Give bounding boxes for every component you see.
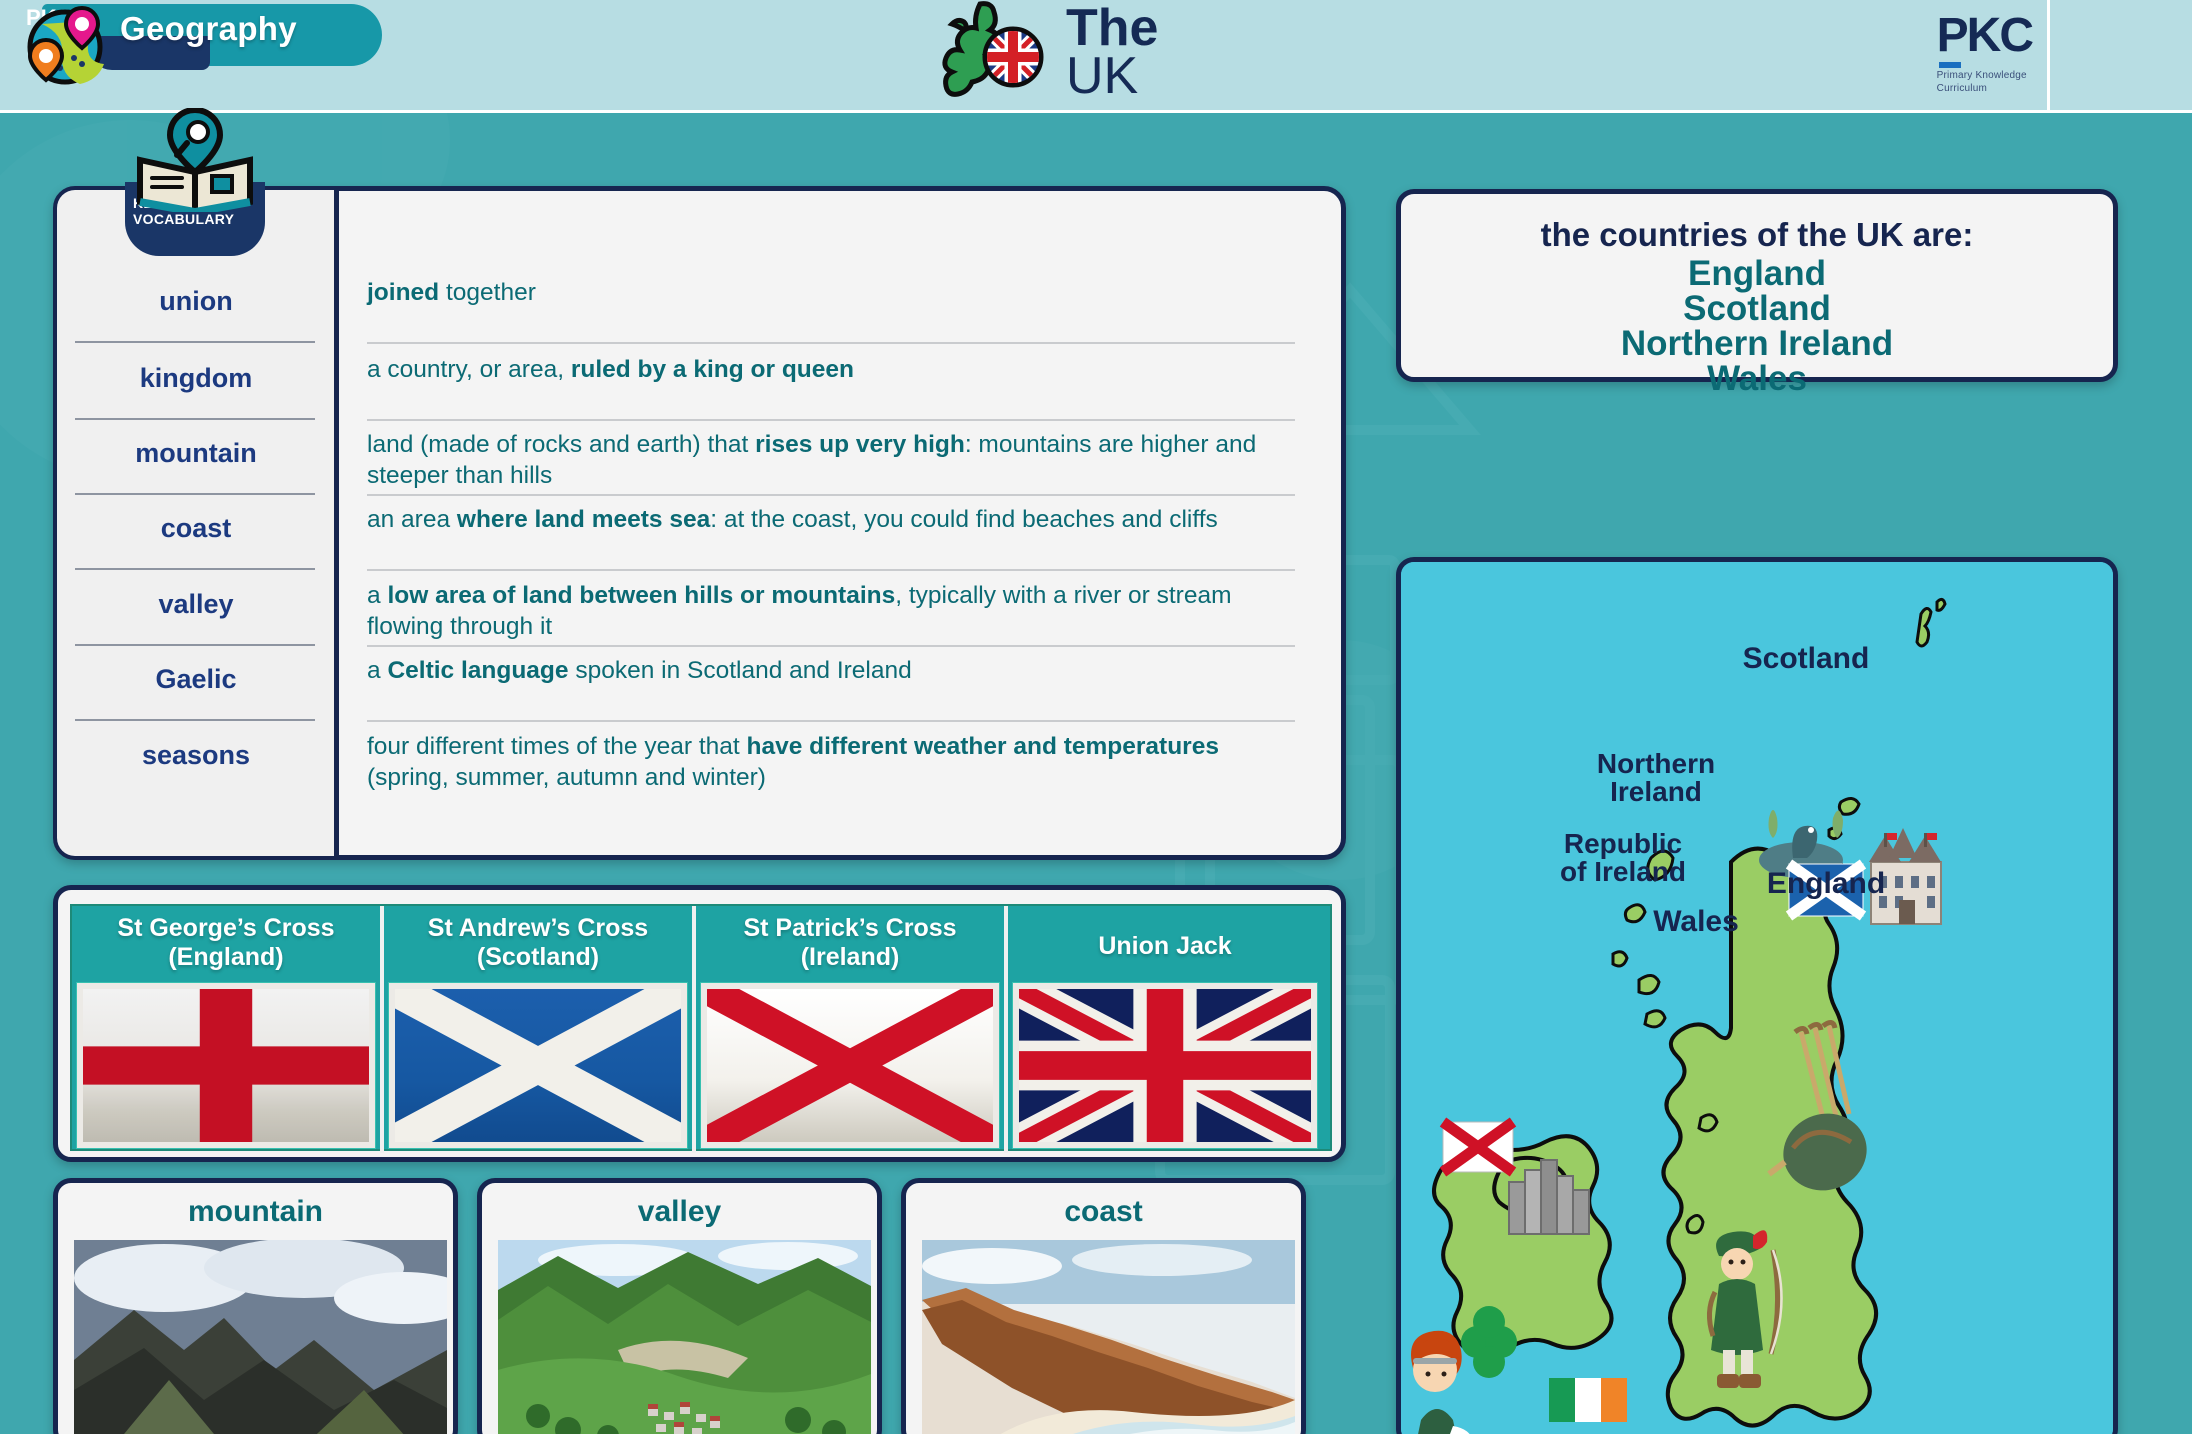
vocab-term-seasons: seasons xyxy=(57,740,335,771)
flag-cell-england-flag: St George’s Cross(England) xyxy=(72,906,384,1153)
vocabulary-terms-column: unionkingdommountaincoastvalleyGaelicsea… xyxy=(57,190,339,856)
photo-card-valley: valley xyxy=(477,1178,882,1434)
pkc-brand-logo: PKC Primary Knowledge Curriculum xyxy=(1937,12,2032,95)
pkc-mark: PKC xyxy=(1937,12,2032,60)
subject-label: Geography xyxy=(120,10,297,48)
pkc-subtitle-line2: Curriculum xyxy=(1937,83,2032,96)
vocab-definition-mountain: land (made of rocks and earth) that rise… xyxy=(367,429,1297,492)
uk-map-flag-icon xyxy=(940,0,1060,105)
vocab-term-union: union xyxy=(57,286,335,317)
map-label-wales: Wales xyxy=(1601,907,1791,937)
top-banner: Geography PKC The UK xyxy=(0,0,2192,113)
vocab-divider xyxy=(75,341,315,343)
vocab-term-mountain: mountain xyxy=(57,438,335,469)
country-wales: Wales xyxy=(1401,361,2113,396)
logo-line-the: The xyxy=(1066,5,1158,53)
globe-pin-icon xyxy=(22,2,108,88)
vocab-definition-union: joined together xyxy=(367,277,1297,308)
scotland-flag-icon xyxy=(388,982,688,1149)
flags-row: St George’s Cross(England)St Andrew’s Cr… xyxy=(70,904,1332,1151)
vocab-term-valley: valley xyxy=(57,589,335,620)
countries-heading: the countries of the UK are: xyxy=(1401,216,2113,254)
photo-title-valley: valley xyxy=(482,1195,877,1229)
flag-cell-stpatricks-flag: St Patrick’s Cross(Ireland) xyxy=(696,906,1008,1153)
vocab-definition-coast: an area where land meets sea: at the coa… xyxy=(367,504,1297,535)
map-label-northern-ireland: NorthernIreland xyxy=(1551,750,1761,806)
country-northern-ireland: Northern Ireland xyxy=(1401,326,2113,361)
flag-label: Union Jack xyxy=(1008,906,1322,961)
pkc-accent-bar xyxy=(1939,62,1961,68)
kv-tab-line2: VOCABULARY xyxy=(133,211,234,227)
definition-divider xyxy=(367,342,1295,344)
uk-logo: The UK xyxy=(940,0,1158,105)
uk-map-illustration xyxy=(1401,562,2113,1434)
vocab-divider xyxy=(75,493,315,495)
flag-label: St Patrick’s Cross(Ireland) xyxy=(696,906,1004,972)
union-jack-icon xyxy=(1012,982,1318,1149)
countries-of-uk-panel: the countries of the UK are: EnglandScot… xyxy=(1396,189,2118,382)
coast-photo xyxy=(922,1240,1295,1434)
northern-ireland-flag-icon xyxy=(1443,1122,1513,1172)
logo-line-uk: UK xyxy=(1066,53,1158,101)
ireland-tricolour-flag-icon xyxy=(1549,1378,1627,1422)
flag-label: St Andrew’s Cross(Scotland) xyxy=(384,906,692,972)
vocab-divider xyxy=(75,568,315,570)
photo-card-mountain: mountain xyxy=(53,1178,458,1434)
definition-divider xyxy=(367,494,1295,496)
vocab-definition-seasons: four different times of the year that ha… xyxy=(367,731,1297,794)
vocab-term-kingdom: kingdom xyxy=(57,363,335,394)
vocab-definition-kingdom: a country, or area, ruled by a king or q… xyxy=(367,354,1297,385)
key-vocabulary-panel: unionkingdommountaincoastvalleyGaelicsea… xyxy=(53,186,1346,860)
flag-label: St George’s Cross(England) xyxy=(72,906,380,972)
photo-title-coast: coast xyxy=(906,1195,1301,1229)
definition-divider xyxy=(367,419,1295,421)
definition-divider xyxy=(367,569,1295,571)
vocabulary-definitions-column: joined togethera country, or area, ruled… xyxy=(341,191,1341,857)
pkc-subtitle-line1: Primary Knowledge xyxy=(1937,70,2032,83)
vocab-term-gaelic: Gaelic xyxy=(57,664,335,695)
countries-list: EnglandScotlandNorthern IrelandWales xyxy=(1401,256,2113,396)
mountain-photo xyxy=(74,1240,447,1434)
vocab-term-coast: coast xyxy=(57,513,335,544)
photo-card-coast: coast xyxy=(901,1178,1306,1434)
map-label-scotland: Scotland xyxy=(1701,644,1911,674)
vocab-divider xyxy=(75,644,315,646)
banner-divider xyxy=(2047,0,2050,113)
definition-divider xyxy=(367,645,1295,647)
vocab-definition-gaelic: a Celtic language spoken in Scotland and… xyxy=(367,655,1297,686)
photo-title-mountain: mountain xyxy=(58,1195,453,1229)
country-england: England xyxy=(1401,256,2113,291)
england-flag-icon xyxy=(76,982,376,1149)
map-label-england: England xyxy=(1711,869,1941,899)
open-book-pin-icon xyxy=(132,108,258,212)
flag-cell-union-jack: Union Jack xyxy=(1008,906,1322,1153)
flag-cell-scotland-flag: St Andrew’s Cross(Scotland) xyxy=(384,906,696,1153)
vocab-divider xyxy=(75,719,315,721)
vocab-divider xyxy=(75,418,315,420)
uk-map-panel: ScotlandNorthernIrelandRepublicof Irelan… xyxy=(1396,557,2118,1434)
stpatricks-flag-icon xyxy=(700,982,1000,1149)
flags-panel: St George’s Cross(England)St Andrew’s Cr… xyxy=(53,885,1346,1162)
vocab-definition-valley: a low area of land between hills or moun… xyxy=(367,580,1297,643)
valley-photo xyxy=(498,1240,871,1434)
country-scotland: Scotland xyxy=(1401,291,2113,326)
definition-divider xyxy=(367,720,1295,722)
